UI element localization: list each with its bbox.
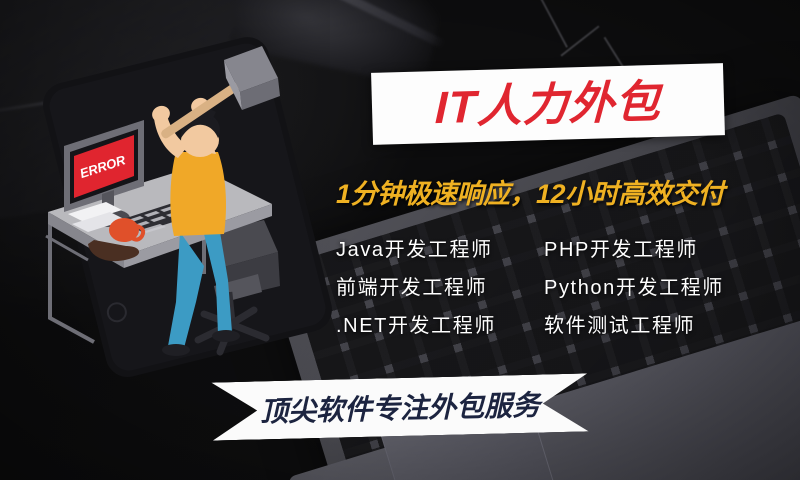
promo-banner: ERROR xyxy=(0,0,800,480)
bottom-ribbon: 顶尖软件专注外包服务 xyxy=(211,373,588,440)
job-item: PHP开发工程师 xyxy=(544,233,788,262)
job-item: .NET开发工程师 xyxy=(336,309,544,338)
job-item: Python开发工程师 xyxy=(544,271,788,300)
developer-illustration: ERROR xyxy=(28,34,348,384)
title-banner: IT人力外包 xyxy=(371,63,725,145)
job-row: .NET开发工程师 软件测试工程师 xyxy=(336,304,788,342)
page-title: IT人力外包 xyxy=(434,78,661,129)
job-item: Java开发工程师 xyxy=(336,233,544,262)
ribbon-label: 顶尖软件专注外包服务 xyxy=(211,373,588,440)
job-item: 前端开发工程师 xyxy=(336,271,544,300)
subtitle-text: 1分钟极速响应，12小时高效交付 xyxy=(336,172,788,211)
job-list: Java开发工程师 PHP开发工程师 前端开发工程师 Python开发工程师 .… xyxy=(336,228,788,342)
job-row: 前端开发工程师 Python开发工程师 xyxy=(336,266,788,304)
job-item: 软件测试工程师 xyxy=(544,309,788,338)
job-row: Java开发工程师 PHP开发工程师 xyxy=(336,228,788,266)
